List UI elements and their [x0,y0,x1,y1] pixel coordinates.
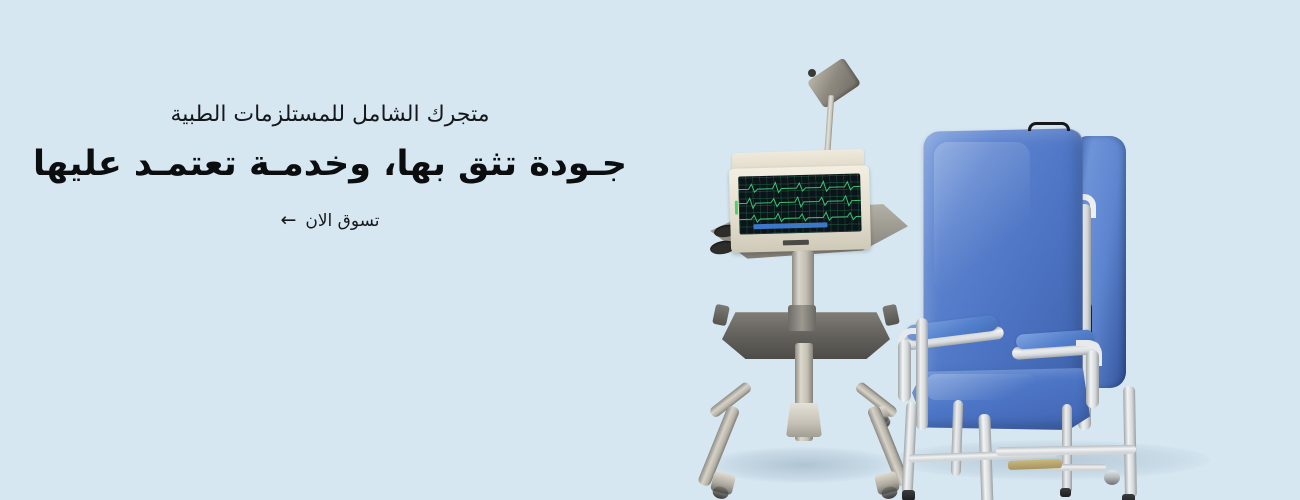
chair-seat-highlight [926,374,1036,400]
basket-hook [882,304,900,326]
probe-hole [709,239,737,256]
ecg-trace-icon [739,192,861,209]
ecg-grid [738,173,861,234]
chair-armrest-tube-right [1012,341,1101,360]
cart-leg [866,405,910,488]
hero-copy: متجرك الشامل للمستلزمات الطبية جـودة تثق… [20,100,640,231]
cart-column-lower [795,343,813,441]
cart-probe-holder [702,203,908,261]
product-stage [0,0,1300,500]
chair-leg [902,402,918,494]
cart-base-hub [786,403,822,437]
chair-leg [978,414,993,500]
chair-leg [951,400,964,476]
chair-seat-cushion [912,368,1090,430]
chair-armrest-front-right [1086,350,1099,408]
chair-back-top-bar [1076,194,1096,218]
screen-status-bar [753,222,827,229]
cta-wrapper: تسوق الان ← [20,211,640,231]
basket-compartment [818,313,866,343]
chair-armrest-elbow-left [898,328,924,354]
hero-headline: جـودة تثق بها، وخدمـة تعتمـد عليها [20,142,640,188]
hero-banner: متجرك الشامل للمستلزمات الطبية جـودة تثق… [0,0,1300,500]
monitor-screen [738,173,861,234]
chair-foot-cap [902,490,915,500]
chair-caster-wheel [1104,470,1120,485]
folding-mechanism-shadow [1050,300,1092,396]
medical-cart-image [700,55,910,485]
cart-caster [869,406,890,425]
caster-wheel-icon [711,485,729,500]
cart-floor-shadow [708,447,898,483]
cart-leg [697,405,741,488]
basket-compartment [744,313,792,343]
hero-eyebrow: متجرك الشامل للمستلزمات الطبية [20,100,640,130]
shop-now-label: تسوق الان [305,211,379,231]
monitor-brand-plate [783,240,809,246]
chair-leg [1123,386,1137,498]
chair-stretcher-bar [908,449,1058,462]
chair-armrest-pad-right [1016,329,1095,349]
chair-stretcher-bar [996,445,1136,456]
cart-upper-pole [820,95,834,215]
cart-storage-basket [722,307,890,359]
chair-armrest-pad-left [905,314,998,341]
cart-column-joint [788,305,816,331]
ecg-trace-icon [738,177,860,194]
folding-bed-frame-edge [1062,130,1082,392]
cart-leg [854,381,899,419]
chair-carry-handle [1028,122,1070,131]
arrow-left-icon: ← [280,211,296,230]
cart-sensor-head [807,57,861,108]
chair-under-bracket [1008,459,1062,470]
folding-bed-cushion [1072,136,1126,388]
power-led-icon [735,201,738,215]
cart-caster [874,471,900,496]
chair-foot-cap [1060,488,1071,497]
shop-now-link[interactable]: تسوق الان ← [280,211,379,231]
chair-back-post-left [916,318,928,430]
chair-back-post-right [1078,204,1091,430]
cart-caster [710,471,736,496]
chair-stretcher-bar [1050,464,1106,471]
cart-worktop [702,203,908,261]
chair-floor-shadow [890,440,1210,480]
chair-back-cushion [924,128,1083,388]
cart-sensor-knob [808,69,816,77]
chair-armrest-tube-left [900,326,1005,352]
caster-wheel-icon [873,415,891,430]
caster-wheel-icon [880,485,898,500]
chair-foot-cap [1122,494,1135,500]
cart-column-upper [792,251,814,313]
chair-back-highlight [934,142,1030,292]
ecg-trace-icon [739,207,861,224]
monitor-hood [732,149,865,176]
chair-armrest-front-left [898,340,911,402]
probe-hole [713,223,739,239]
basket-hook [712,304,730,326]
chair-armrest-elbow-right [1076,340,1102,366]
chair-leg [1062,404,1072,494]
monitor-body [729,165,871,253]
hospital-chair-image [900,118,1200,478]
cart-leg [708,381,753,419]
